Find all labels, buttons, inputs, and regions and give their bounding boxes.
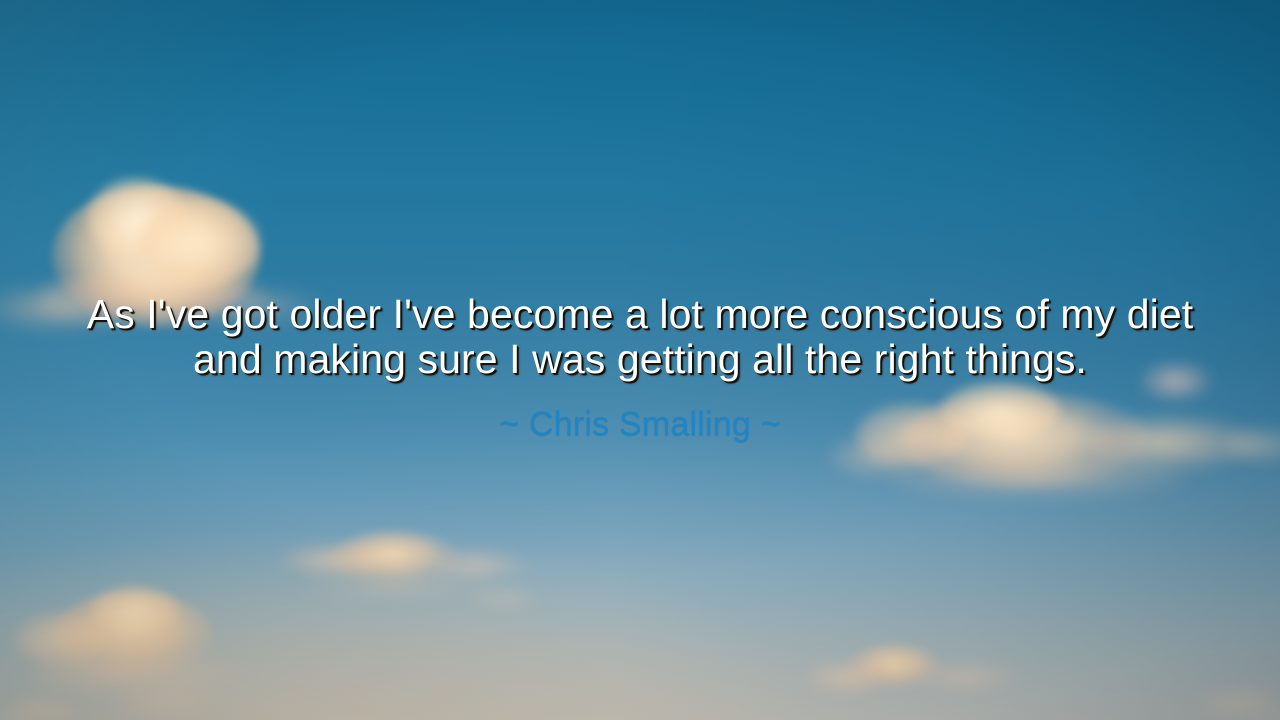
quote-text-layer: As I've got older I've become a lot more…: [0, 0, 1280, 720]
quote-card: As I've got older I've become a lot more…: [0, 0, 1280, 720]
quote-attribution: ~ Chris Smalling ~: [499, 405, 780, 443]
quote-body-text: As I've got older I've become a lot more…: [80, 292, 1200, 382]
